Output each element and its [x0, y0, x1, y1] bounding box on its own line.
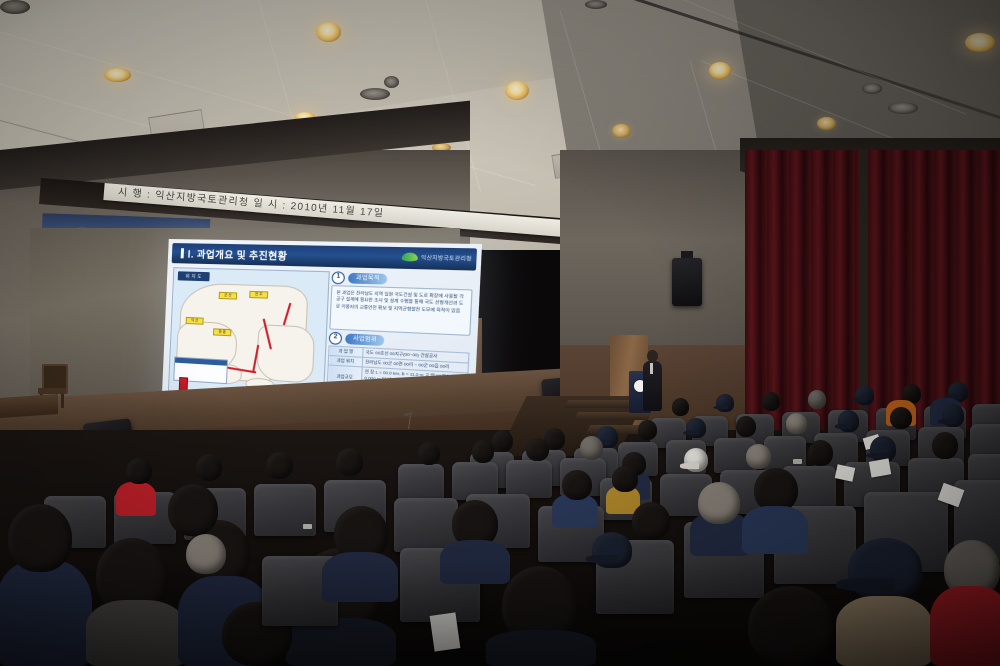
audience-body	[440, 540, 510, 584]
ceiling-downlight	[316, 22, 341, 42]
audience-body	[0, 560, 92, 666]
audience-head	[562, 470, 592, 500]
audience-body	[836, 596, 932, 666]
seat[interactable]	[506, 460, 552, 498]
ceiling-downlight-off	[384, 76, 399, 88]
audience-head	[196, 454, 222, 481]
map-tag-label: 위 치 도	[178, 271, 210, 281]
handout-paper	[869, 458, 891, 477]
map-city-label: 익 산	[186, 317, 204, 325]
map-city-label: 정 읍	[213, 328, 231, 336]
audience-head	[686, 418, 706, 438]
panel-purpose-header: 1 과업목적	[331, 271, 387, 284]
audience-head	[336, 448, 363, 476]
chair-leg	[61, 394, 64, 408]
aisle-step	[574, 412, 652, 420]
audience-body	[322, 552, 398, 602]
audience-head	[592, 532, 632, 568]
title-accent-bar	[181, 248, 184, 258]
audience-head	[672, 398, 689, 416]
audience-body-red	[116, 482, 156, 516]
ceiling-downlight	[817, 117, 836, 130]
seat[interactable]	[254, 484, 316, 536]
audience-head	[890, 407, 912, 429]
audience-head	[418, 442, 440, 465]
audience-head	[126, 458, 152, 484]
ceiling-downlight	[612, 124, 631, 138]
slide-logo-text: 익산지방국토관리청	[421, 253, 472, 262]
audience-body	[486, 630, 596, 666]
audience-head	[808, 440, 833, 466]
audience-head	[932, 432, 958, 459]
seat[interactable]	[398, 464, 444, 502]
audience-head	[698, 482, 740, 524]
panel-heading: 과업목적	[348, 272, 388, 284]
seat-number-tag	[793, 459, 802, 464]
audience-head-foreground	[848, 538, 922, 600]
presenter-shirt	[650, 363, 653, 374]
swoosh-icon	[401, 253, 417, 262]
ceiling-downlight	[104, 68, 131, 82]
audience-body	[742, 506, 808, 554]
aisle-step	[564, 400, 638, 408]
audience-head	[684, 448, 708, 472]
audience-head	[855, 386, 874, 405]
audience-head	[526, 438, 549, 461]
ceiling-downlight-off	[585, 0, 607, 9]
panel-scope-header: 2 사업범위	[329, 332, 385, 346]
audience-head	[762, 392, 780, 411]
audience-head	[746, 444, 771, 469]
audience-head	[266, 452, 293, 479]
seat-number-tag	[303, 524, 312, 529]
ceiling-downlight-off	[360, 88, 390, 100]
audience-head	[716, 394, 734, 412]
map-landmass	[256, 324, 316, 383]
slide-title-text: Ⅰ. 과업개요 및 추진현황	[187, 246, 287, 262]
wall-mounted-speaker	[672, 258, 702, 306]
audience-head	[838, 410, 859, 432]
audience-head	[638, 420, 657, 440]
audience-head-foreground	[748, 586, 834, 666]
map-legend-header	[175, 358, 227, 366]
audience-head	[492, 430, 513, 452]
audience-head	[808, 390, 826, 409]
ceiling-downlight-off	[862, 83, 882, 94]
audience-head	[632, 502, 670, 540]
audience-head	[942, 404, 964, 427]
ceiling-downlight-off	[888, 102, 918, 114]
audience-head	[580, 436, 603, 460]
panel-number: 1	[331, 271, 345, 284]
ceiling-downlight	[505, 81, 529, 100]
audience-head	[168, 484, 218, 536]
panel-heading: 사업범위	[345, 333, 385, 346]
audience-head	[786, 413, 807, 434]
ceiling-downlight	[965, 33, 995, 52]
slide-logo: 익산지방국토관리청	[397, 249, 477, 266]
audience-head	[612, 466, 638, 492]
handout-paper	[430, 612, 461, 651]
audience-head	[186, 534, 226, 574]
audience-head	[472, 440, 494, 463]
presenter-head	[647, 350, 658, 362]
map-city-label: 군 산	[219, 292, 238, 300]
side-table	[0, 394, 58, 418]
audience-head	[736, 416, 756, 437]
panel-purpose-text: 본 과업은 전라남도 지역 일원 국도건설 및 도로 확장에 사용될 각 공구 …	[330, 285, 470, 319]
audience-body	[86, 600, 186, 666]
map-city-label: 전 주	[249, 291, 268, 299]
ceiling-downlight-off	[0, 0, 30, 14]
audience-head	[870, 436, 896, 462]
audience-head-foreground	[8, 504, 72, 572]
audience-body-red	[930, 586, 1000, 666]
auditorium-photo: 시 행 : 익산지방국토관리청 일 시 : 2010년 11월 17일 Ⅰ. 과…	[0, 0, 1000, 666]
panel-number: 2	[329, 331, 343, 344]
ceiling-downlight	[709, 62, 731, 79]
